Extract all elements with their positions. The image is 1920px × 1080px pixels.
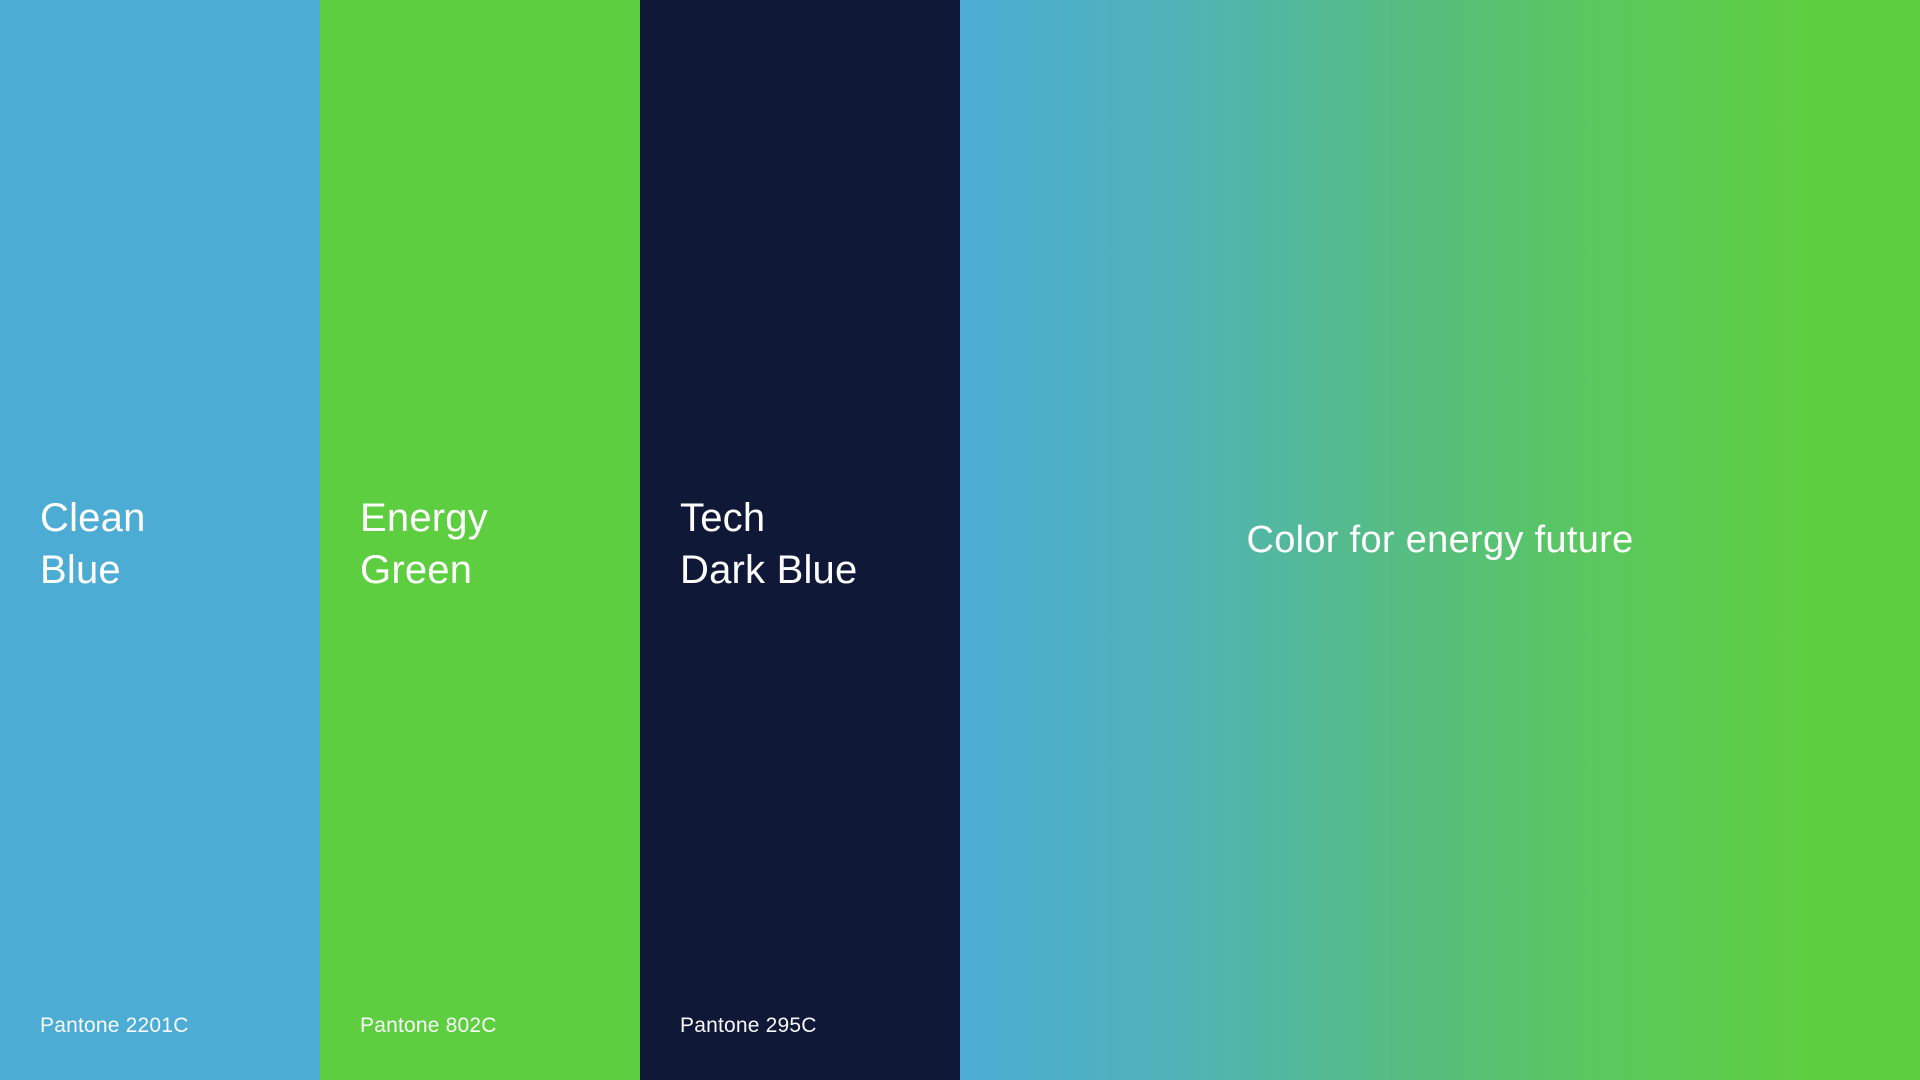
swatch-tech-dark-blue[interactable]: Tech Dark Blue Pantone 295C bbox=[640, 0, 960, 1080]
swatch-energy-green-pantone: Pantone 802C bbox=[360, 1013, 497, 1039]
gradient-tagline: Color for energy future bbox=[960, 516, 1920, 564]
swatch-clean-blue-pantone: Pantone 2201C bbox=[40, 1013, 189, 1039]
swatch-energy-green[interactable]: Energy Green Pantone 802C bbox=[320, 0, 640, 1080]
color-palette-board: Clean Blue Pantone 2201C Energy Green Pa… bbox=[0, 0, 1920, 1080]
swatch-clean-blue-name: Clean Blue bbox=[40, 492, 146, 596]
swatch-clean-blue[interactable]: Clean Blue Pantone 2201C bbox=[0, 0, 320, 1080]
swatch-tech-dark-blue-pantone: Pantone 295C bbox=[680, 1013, 817, 1039]
swatch-energy-green-name: Energy Green bbox=[360, 492, 488, 596]
swatch-tech-dark-blue-name: Tech Dark Blue bbox=[680, 492, 857, 596]
swatch-gradient-panel[interactable]: Color for energy future bbox=[960, 0, 1920, 1080]
